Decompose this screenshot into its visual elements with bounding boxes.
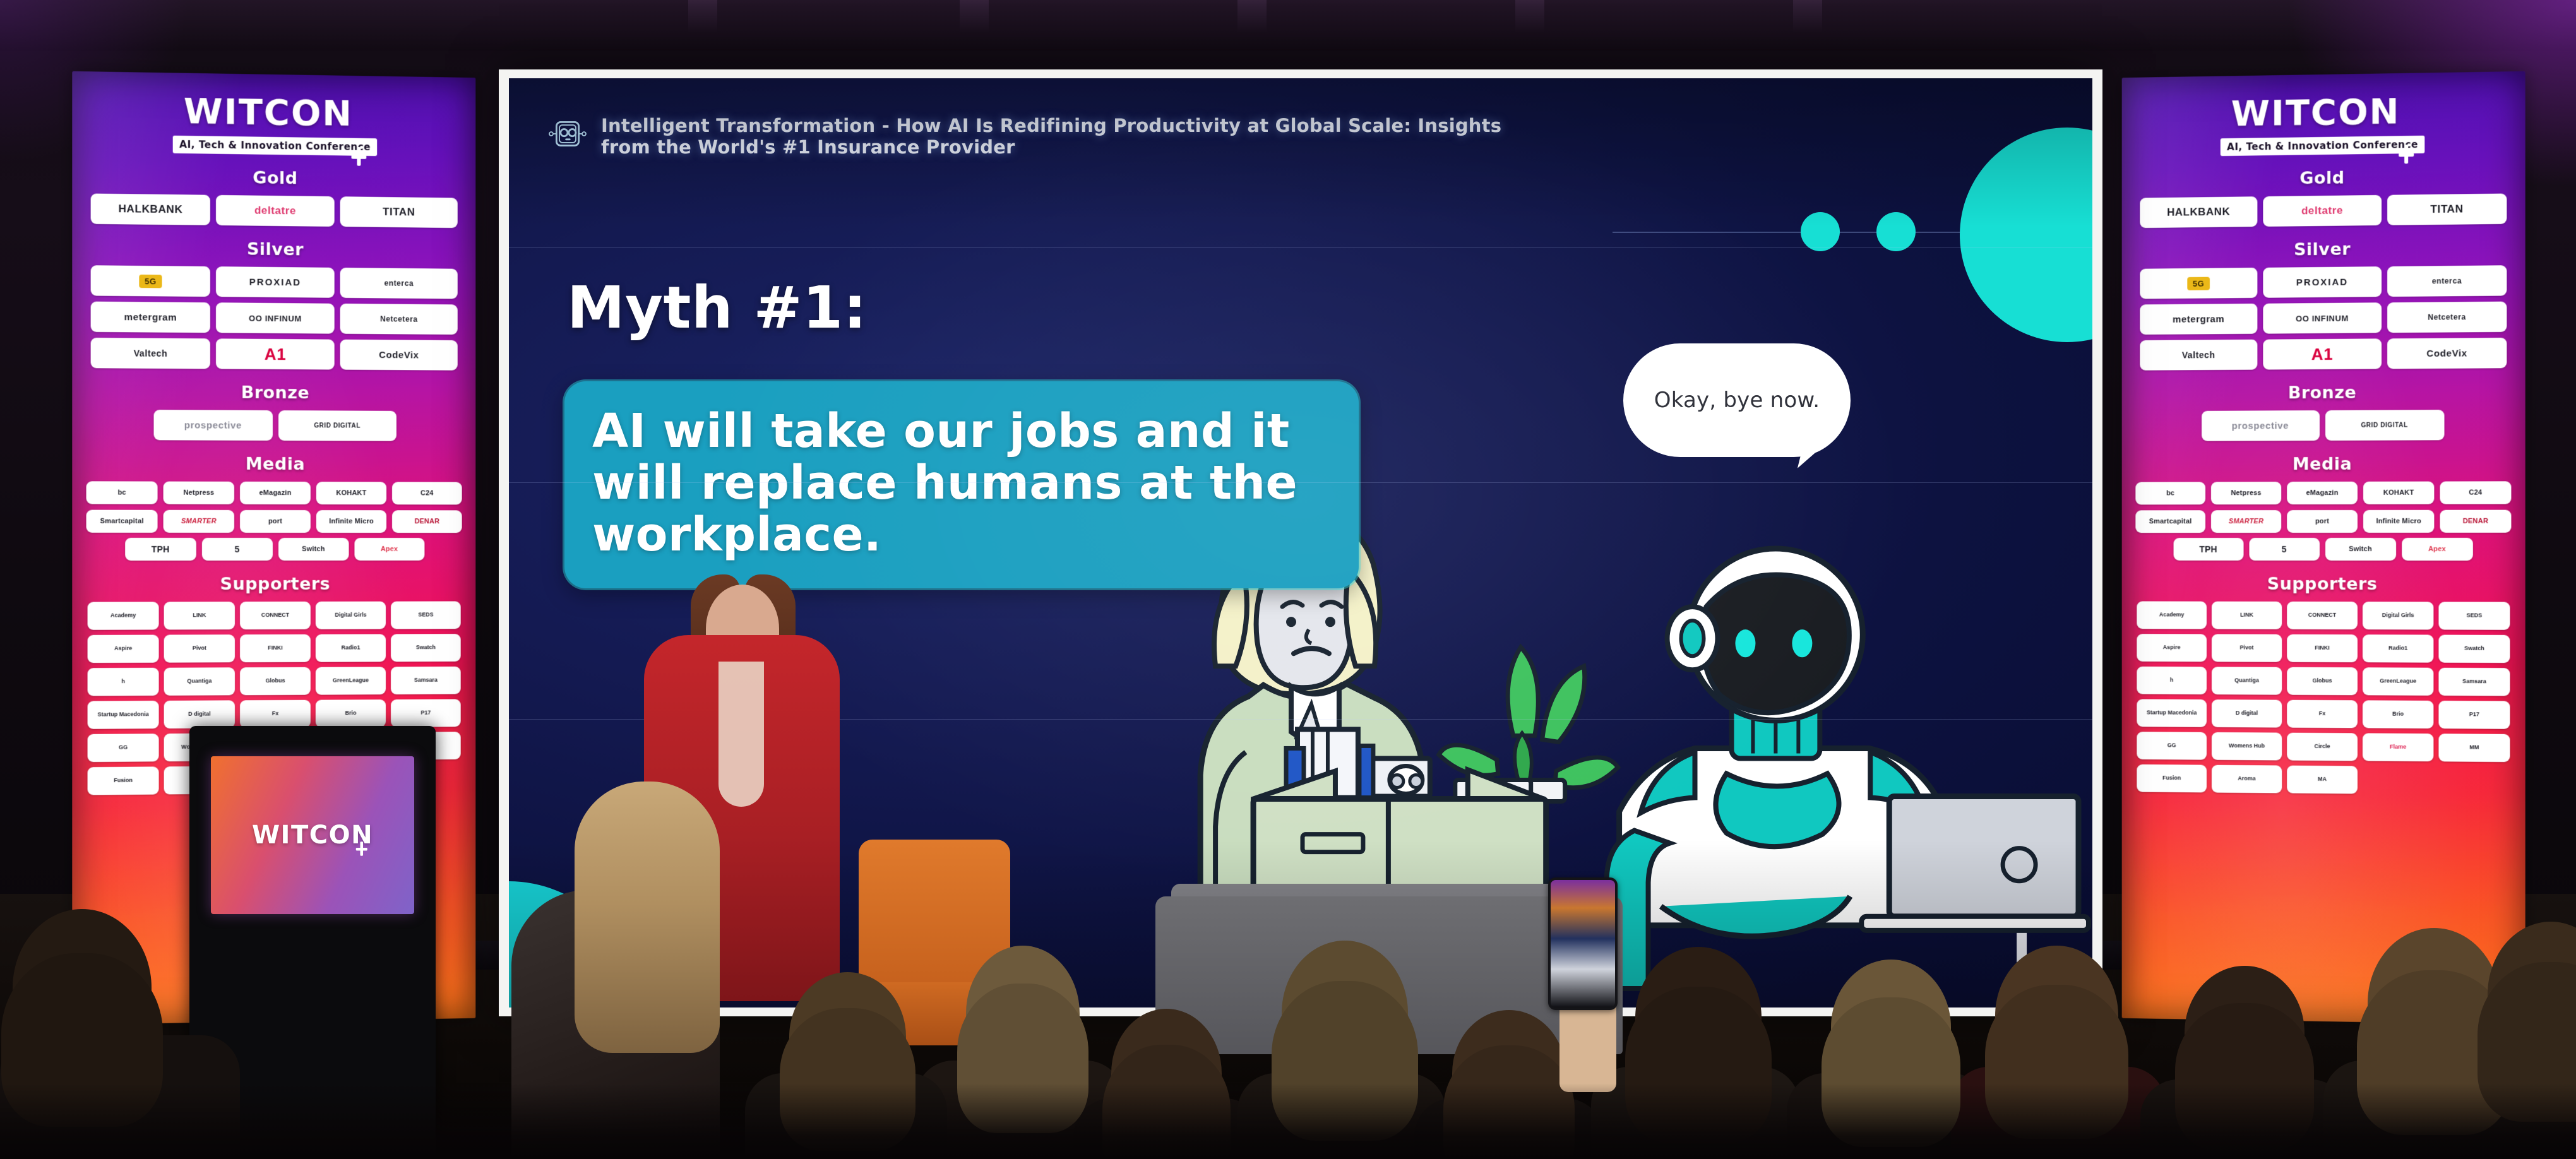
ceiling-band (0, 0, 2576, 51)
presentation-slide: Intelligent Transformation - How AI Is R… (509, 78, 2092, 1007)
sponsor-logo: FINKI (2287, 634, 2358, 662)
robot-head-icon (548, 117, 587, 150)
myth-statement: AI will take our jobs and it will replac… (592, 405, 1331, 561)
sponsor-grid-supporters: Academy LINK CONNECT Digital Girls SEDS … (2132, 602, 2515, 795)
witcon-wordmark: WITCON (2231, 91, 2400, 134)
tier-heading-supporters: Supporters (2132, 574, 2515, 595)
sponsor-logo: OO INFINUM (216, 302, 335, 333)
sponsor-logo: A1 (216, 339, 335, 370)
tier-heading-silver: Silver (82, 238, 465, 261)
witcon-wordmark: WITCON (184, 91, 353, 134)
sponsor-logo: C24 (2440, 482, 2511, 504)
witcon-tagline: AI, Tech & Innovation Conference (173, 136, 377, 156)
sponsor-grid-bronze: prospective GRID DIGITAL (2132, 410, 2515, 442)
myth-heading: Myth #1: (567, 274, 867, 342)
sponsor-logo: Switch (278, 538, 349, 561)
sponsor-logo: C24 (392, 482, 462, 505)
sponsor-logo: Digital Girls (316, 602, 386, 629)
sponsor-logo: MA (240, 766, 311, 794)
tier-heading-gold: Gold (82, 166, 465, 191)
sponsor-logo: HALKBANK (91, 194, 210, 225)
sponsor-logo: Infinite Micro (2363, 510, 2434, 533)
sponsor-logo: Smartcapital (2135, 510, 2205, 533)
sponsor-logo: LINK (164, 602, 235, 629)
sponsor-logo: Womens Hub (164, 734, 235, 762)
sponsor-logo: Quantiga (2212, 667, 2282, 694)
sponsor-grid-silver: 5G PROXIAD enterca metergram OO INFINUM … (82, 265, 465, 371)
sponsor-logo: Netpress (2211, 482, 2281, 504)
sponsor-logo: GRID DIGITAL (2325, 410, 2444, 441)
sponsor-logo: KOHAKT (2363, 482, 2434, 504)
sponsor-logo: 5 (2249, 538, 2320, 561)
sponsor-logo: DENAR (392, 510, 462, 533)
sponsor-logo: Quantiga (164, 667, 235, 696)
sponsor-logo: Valtech (91, 338, 210, 369)
sponsor-grid-media: bc Netpress eMagazin KOHAKT C24 Smartcap… (2132, 481, 2515, 533)
sponsor-logo: Infinite Micro (316, 510, 386, 533)
sponsor-logo: Netcetera (340, 304, 458, 335)
sponsor-logo: GRID DIGITAL (278, 410, 396, 441)
sponsor-logo: Radio1 (316, 634, 386, 662)
sponsor-grid-gold: HALKBANK deltatre TITAN (2132, 194, 2515, 229)
sponsor-logo: Startup Macedonia (2137, 699, 2207, 727)
tier-heading-bronze: Bronze (2132, 382, 2515, 403)
sponsor-banner-right: WITCON AI, Tech & Innovation Conference … (2122, 71, 2525, 1025)
sponsor-logo: MM (2438, 734, 2510, 762)
sponsor-logo: TITAN (2387, 194, 2507, 225)
ceiling-truss-strip (960, 0, 989, 33)
sponsor-logo: Globus (240, 667, 311, 696)
sponsor-logo: Fx (240, 700, 311, 728)
sponsor-logo: 5 (201, 538, 272, 561)
tier-heading-gold: Gold (2132, 166, 2515, 191)
sponsor-logo: Circle (240, 733, 311, 761)
sponsor-logo: DENAR (2440, 510, 2511, 533)
sponsor-logo: D digital (2212, 699, 2282, 728)
sponsor-logo: Globus (2287, 667, 2358, 696)
sponsor-logo: P17 (2438, 701, 2510, 729)
sponsor-logo: Aroma (164, 766, 235, 795)
sponsor-logo: Radio1 (2363, 634, 2433, 662)
sponsor-logo: Swatch (391, 634, 461, 662)
sponsor-logo: Switch (2325, 538, 2395, 561)
robot-illustration (1607, 549, 2089, 989)
ceiling-truss-strip (1793, 0, 1822, 33)
sponsor-logo: Netcetera (2387, 302, 2507, 333)
sponsor-logo: Academy (2137, 602, 2207, 629)
sponsor-logo: FINKI (240, 634, 311, 662)
sponsor-logo: enterca (2387, 265, 2507, 297)
sponsor-logo: Brio (316, 699, 386, 728)
sponsor-logo: bc (2135, 482, 2205, 505)
tier-heading-silver: Silver (2132, 238, 2515, 261)
sponsor-logo: Digital Girls (2363, 602, 2433, 629)
sponsor-logo: GG (88, 734, 159, 762)
ceiling-truss-strip (1237, 0, 1267, 33)
sponsor-logo: GreenLeague (316, 667, 386, 694)
sponsor-grid-media-row3: TPH 5 Switch Apex (2132, 538, 2515, 561)
ceiling-truss-strip (688, 0, 717, 33)
sponsor-logo: TITAN (340, 196, 458, 228)
sponsor-logo: LINK (2212, 602, 2282, 629)
sponsor-logo: Fusion (2137, 764, 2207, 793)
sponsor-logo: enterca (340, 268, 458, 299)
sponsor-logo: SEDS (391, 602, 461, 629)
sponsor-logo: MM (391, 732, 461, 760)
sponsor-logo: Academy (88, 602, 159, 630)
sponsor-logo: SEDS (2438, 602, 2510, 630)
sponsor-logo: Netpress (164, 482, 234, 504)
sponsor-logo: bc (86, 482, 158, 504)
tier-heading-bronze: Bronze (82, 382, 465, 403)
sponsor-logo: Apex (354, 538, 424, 561)
sponsor-logo: GG (2137, 732, 2207, 760)
sponsor-logo: eMagazin (2287, 482, 2358, 504)
sponsor-logo: Samsara (2438, 668, 2510, 696)
sponsor-logo: prospective (153, 410, 273, 441)
ceiling-truss-strip (1515, 0, 1544, 33)
slide-header: Intelligent Transformation - How AI Is R… (548, 115, 1548, 158)
sponsor-logo: Fx (2287, 700, 2358, 728)
sponsor-logo: h (88, 668, 159, 696)
sponsor-logo: port (240, 510, 311, 533)
sponsor-logo: 5G (2140, 268, 2257, 299)
sponsor-logo: Startup Macedonia (88, 701, 159, 729)
sponsor-logo: Samsara (391, 667, 461, 694)
sponsor-logo: P17 (391, 699, 461, 727)
sponsor-logo: OO INFINUM (2263, 302, 2382, 333)
sponsor-grid-silver: 5G PROXIAD enterca metergram OO INFINUM … (2132, 265, 2515, 371)
sponsor-logo: Valtech (2140, 340, 2257, 371)
tier-heading-supporters: Supporters (82, 574, 465, 595)
sponsor-logo: KOHAKT (316, 482, 386, 504)
led-screen-frame: Intelligent Transformation - How AI Is R… (499, 69, 2102, 1016)
sponsor-logo: 5G (91, 265, 210, 297)
sponsor-logo: TPH (2173, 538, 2243, 561)
slide-title: Intelligent Transformation - How AI Is R… (601, 115, 1548, 158)
witcon-tagline: AI, Tech & Innovation Conference (2221, 136, 2424, 156)
sponsor-banner-left: WITCON AI, Tech & Innovation Conference … (72, 71, 475, 1025)
sponsor-grid-media: bc Netpress eMagazin KOHAKT C24 Smartcap… (82, 481, 465, 533)
sponsor-logo: Circle (2287, 733, 2358, 761)
sponsor-logo: metergram (91, 302, 210, 333)
sponsor-logo: Pivot (2212, 634, 2282, 662)
sponsor-logo: CodeVix (2387, 338, 2507, 369)
sponsor-logo: CONNECT (2287, 602, 2358, 629)
sponsor-logo: Apex (2402, 538, 2473, 561)
sponsor-grid-bronze: prospective GRID DIGITAL (82, 410, 465, 442)
witcon-logo: WITCON (2132, 93, 2515, 132)
sponsor-logo: MA (2287, 766, 2358, 794)
sponsor-logo: GreenLeague (2363, 667, 2433, 696)
sponsor-grid-gold: HALKBANK deltatre TITAN (82, 194, 465, 229)
sponsor-logo: Smartcapital (86, 510, 158, 533)
sponsor-logo: prospective (2202, 410, 2320, 441)
sponsor-logo: Womens Hub (2212, 732, 2282, 761)
sponsor-logo: deltatre (216, 195, 335, 227)
sponsor-logo: SMARTER (2211, 510, 2281, 533)
sponsor-logo: metergram (2140, 304, 2257, 335)
speech-bubble-text: Okay, bye now. (1654, 388, 1820, 413)
sponsor-logo: Aroma (2212, 765, 2282, 793)
sponsor-logo: SMARTER (164, 510, 234, 533)
sponsor-logo: Flame (2363, 734, 2433, 762)
sponsor-logo: D digital (164, 701, 235, 729)
sponsor-logo: Brio (2363, 701, 2433, 729)
sponsor-logo: CONNECT (240, 602, 311, 629)
sponsor-logo: PROXIAD (2263, 266, 2382, 298)
sponsor-logo: eMagazin (240, 482, 311, 504)
sponsor-grid-supporters: Academy LINK CONNECT Digital Girls SEDS … (82, 602, 465, 795)
sponsor-logo: PROXIAD (216, 266, 335, 298)
sponsor-logo: CodeVix (340, 340, 458, 371)
sponsor-logo: A1 (2263, 339, 2382, 370)
sponsor-logo: Flame (316, 732, 386, 761)
sponsor-logo: Swatch (2438, 635, 2510, 663)
sponsor-logo: deltatre (2263, 195, 2382, 227)
sponsor-logo: Aspire (88, 635, 159, 663)
conference-photo-scene: WITCON AI, Tech & Innovation Conference … (0, 0, 2576, 1159)
sponsor-logo: HALKBANK (2140, 196, 2257, 228)
sponsor-logo: Pivot (164, 634, 235, 662)
sponsor-logo: TPH (125, 538, 196, 561)
tier-heading-media: Media (2132, 454, 2515, 475)
witcon-logo: WITCON (82, 93, 465, 132)
sponsor-logo: Aspire (2137, 634, 2207, 662)
sponsor-logo: h (2137, 667, 2207, 694)
sponsor-logo: port (2287, 510, 2358, 533)
sponsor-logo: Fusion (88, 767, 159, 795)
myth-callout-box: AI will take our jobs and it will replac… (564, 381, 1359, 588)
sponsor-grid-media-row3: TPH 5 Switch Apex (82, 538, 465, 561)
tier-heading-media: Media (82, 454, 465, 475)
